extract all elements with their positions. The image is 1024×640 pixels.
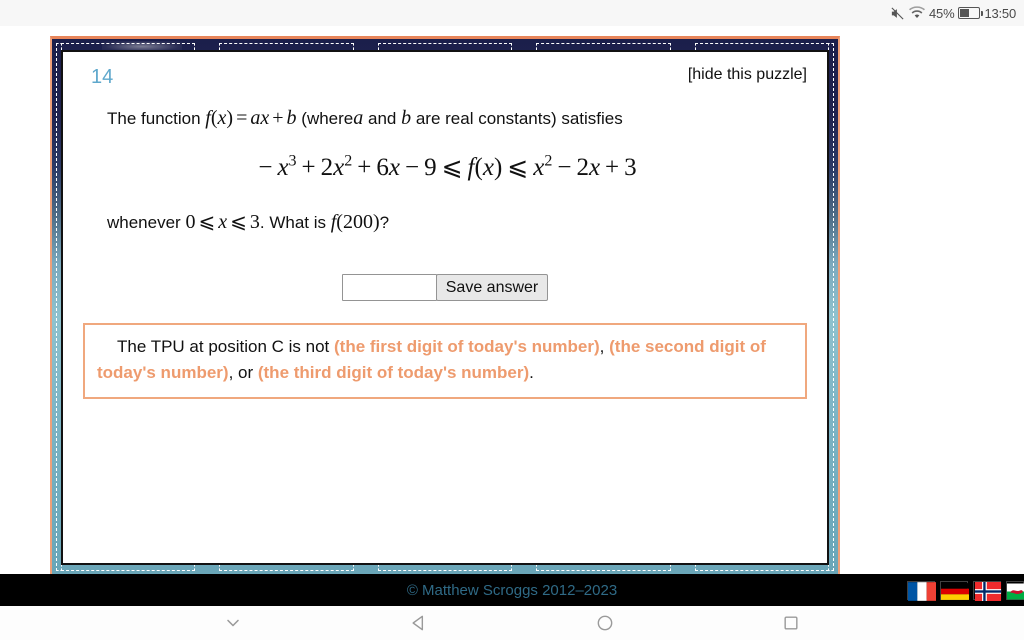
question-text-and: and bbox=[368, 109, 396, 128]
eq-minus-1: − bbox=[253, 154, 277, 181]
puzzle-header: 14 [hide this puzzle] bbox=[83, 66, 807, 98]
answer-input[interactable] bbox=[342, 274, 437, 301]
hint-box: The TPU at position C is not (the first … bbox=[83, 323, 807, 399]
display-equation: −x3+2x2+6x−9⩽f(x)⩽x2−2x+3 bbox=[83, 152, 807, 182]
question2-mid: . What is bbox=[260, 213, 326, 232]
footer-bar: © Matthew Scroggs 2012–2023 bbox=[0, 574, 1024, 606]
copyright-credit: © Matthew Scroggs 2012–2023 bbox=[407, 582, 617, 599]
question-text-tail: are real constants) satisfies bbox=[416, 109, 623, 128]
recents-button[interactable] bbox=[769, 606, 813, 640]
status-bar: 45% 13:50 bbox=[0, 0, 1024, 26]
frame-dashes-top bbox=[61, 43, 829, 50]
mute-icon bbox=[890, 6, 905, 21]
math-domain-range: 0⩽x⩽3 bbox=[185, 211, 259, 233]
flag-germany[interactable] bbox=[940, 581, 968, 600]
question-line-1: The function f(x)=ax+b (wherea and b are… bbox=[83, 104, 807, 132]
battery-icon bbox=[958, 7, 980, 19]
square-icon bbox=[781, 613, 801, 633]
flag-france[interactable] bbox=[907, 581, 935, 600]
flag-norway[interactable] bbox=[973, 581, 1001, 600]
question2-post: ? bbox=[380, 213, 389, 232]
circle-icon bbox=[595, 613, 615, 633]
hint-clue-third: (the third digit of today's number) bbox=[258, 363, 529, 382]
math-var-b: b bbox=[401, 107, 411, 129]
question-line-2: whenever 0⩽x⩽3. What is f(200)? bbox=[83, 208, 807, 236]
home-button[interactable] bbox=[583, 606, 627, 640]
frame-dashes-bottom bbox=[61, 564, 829, 571]
question-text-paren-open: (where bbox=[301, 109, 353, 128]
math-evaluate-expression: f(200) bbox=[331, 211, 380, 233]
puzzle-decorative-frame: 14 [hide this puzzle] The function f(x)=… bbox=[50, 36, 840, 574]
hint-separator-1: , bbox=[600, 337, 609, 356]
save-answer-button[interactable]: Save answer bbox=[436, 274, 549, 301]
browser-viewport: 14 [hide this puzzle] The function f(x)=… bbox=[0, 26, 1024, 574]
hint-end-period: . bbox=[529, 363, 534, 382]
clock: 13:50 bbox=[984, 6, 1016, 21]
question2-pre: whenever bbox=[107, 213, 181, 232]
answer-form: Save answer bbox=[83, 274, 807, 301]
chevron-down-icon bbox=[223, 613, 243, 633]
triangle-left-icon bbox=[409, 613, 429, 633]
hint-clue-first: (the first digit of today's number) bbox=[334, 337, 600, 356]
battery-percent: 45% bbox=[929, 6, 954, 21]
flag-wales[interactable] bbox=[1006, 581, 1024, 600]
puzzle-card: 14 [hide this puzzle] The function f(x)=… bbox=[61, 50, 829, 565]
hint-separator-2: , or bbox=[229, 363, 258, 382]
math-var-a: a bbox=[353, 107, 363, 129]
back-button[interactable] bbox=[397, 606, 441, 640]
hint-lead-text: The TPU at position C is not bbox=[97, 337, 334, 356]
math-function-definition: f(x)=ax+b bbox=[205, 107, 296, 129]
puzzle-number: 14 bbox=[83, 66, 113, 89]
language-flag-list bbox=[907, 574, 1024, 606]
wifi-icon bbox=[909, 6, 925, 20]
hide-puzzle-link[interactable]: [hide this puzzle] bbox=[688, 66, 807, 84]
android-nav-bar bbox=[0, 606, 1024, 640]
hide-keyboard-button[interactable] bbox=[211, 606, 255, 640]
question-text-pre: The function bbox=[107, 109, 201, 128]
